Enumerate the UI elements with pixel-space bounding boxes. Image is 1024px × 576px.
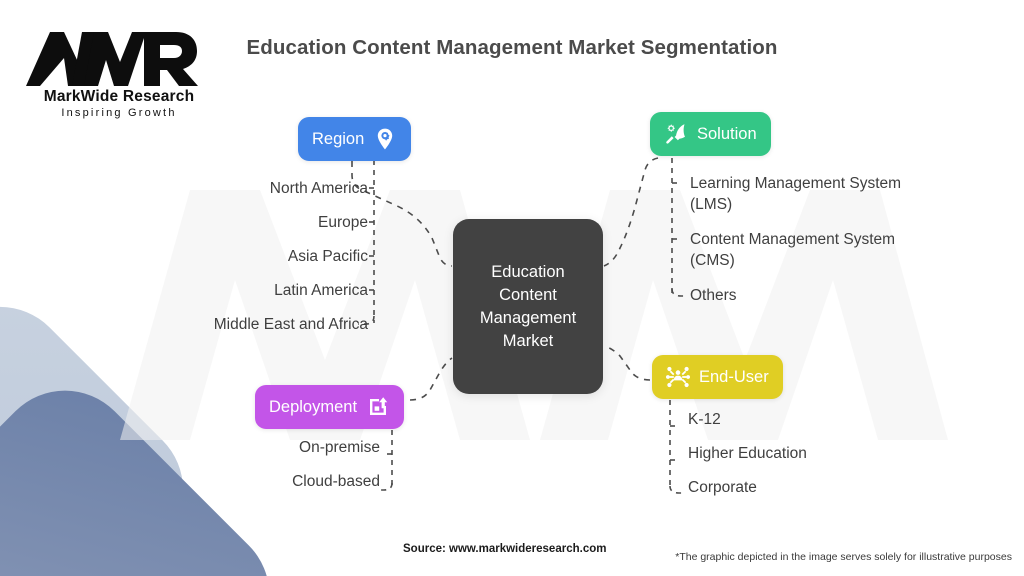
leaf-item: Corporate — [688, 477, 757, 498]
leaf-item: Cloud-based — [292, 471, 380, 492]
disclaimer-note: *The graphic depicted in the image serve… — [675, 551, 1012, 563]
leaf-item: Others — [690, 285, 737, 306]
leaf-item: K-12 — [688, 409, 721, 430]
center-node-line-3: Market — [480, 330, 576, 353]
branch-pill-deployment[interactable]: Deployment — [255, 385, 404, 429]
leaf-item: Middle East and Africa — [214, 314, 368, 335]
branch-label-enduser: End-User — [699, 368, 769, 387]
wire-deployment-to-center — [410, 358, 452, 400]
branch-pill-enduser[interactable]: End-User — [652, 355, 783, 399]
wire-solution-to-center — [604, 158, 658, 266]
location-pin-gear-icon — [373, 127, 397, 151]
branch-pill-region[interactable]: Region — [298, 117, 411, 161]
leaf-item: Learning Management System (LMS) — [690, 173, 940, 215]
wire-solution-stub-2 — [672, 289, 688, 296]
leaf-item: Latin America — [274, 280, 368, 301]
people-network-icon — [666, 365, 690, 389]
wire-enduser-stub-2 — [670, 486, 686, 493]
center-node-line-0: Education — [480, 261, 576, 284]
leaf-item: On-premise — [299, 437, 380, 458]
wire-enduser-to-center — [604, 346, 650, 380]
infographic-canvas: MarkWide Research Inspiring Growth Educa… — [0, 0, 1024, 576]
branch-label-solution: Solution — [697, 125, 757, 144]
leaf-item: Asia Pacific — [288, 246, 368, 267]
source-credit: Source: www.markwideresearch.com — [403, 543, 606, 555]
leaf-item: North America — [270, 178, 368, 199]
center-node-line-2: Management — [480, 307, 576, 330]
center-node: Education Content Management Market — [453, 219, 603, 394]
branch-label-deployment: Deployment — [269, 398, 357, 417]
branch-pill-solution[interactable]: Solution — [650, 112, 771, 156]
leaf-item: Europe — [318, 212, 368, 233]
deploy-upload-icon — [366, 395, 390, 419]
leaf-item: Content Management System (CMS) — [690, 229, 940, 271]
leaf-item: Higher Education — [688, 443, 807, 464]
center-node-line-1: Content — [480, 284, 576, 307]
magic-wand-gear-icon — [664, 122, 688, 146]
branch-label-region: Region — [312, 130, 364, 149]
